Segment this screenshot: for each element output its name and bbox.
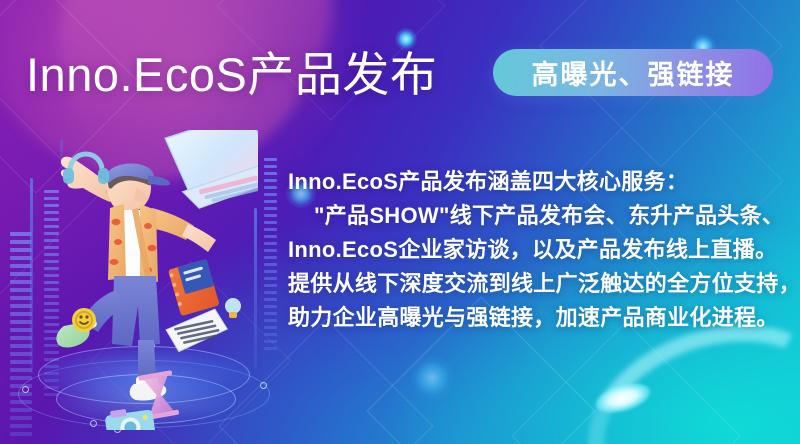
highlight-badge: 高曝光、强链接 — [493, 49, 773, 96]
pedestal-node — [260, 382, 267, 389]
highlight-badge-label: 高曝光、强链接 — [532, 53, 735, 92]
person-with-laptop-illustration — [28, 130, 258, 430]
description-line: 提供从线下深度交流到线上广泛触达的全方位支持， — [288, 270, 788, 298]
dashed-bar-decoration — [264, 158, 277, 350]
description-line: "产品SHOW"线下产品发布会、东升产品头条、 — [288, 202, 788, 230]
glow-dot-decoration — [410, 356, 454, 400]
description-line: 助力企业高曝光与强链接，加速产品商业化进程。 — [288, 304, 788, 332]
page-title: Inno.EcoS产品发布 — [26, 36, 437, 105]
description-line: Inno.EcoS产品发布涵盖四大核心服务： — [288, 168, 788, 196]
description-block: Inno.EcoS产品发布涵盖四大核心服务： "产品SHOW"线下产品发布会、东… — [288, 168, 788, 338]
description-line: Inno.EcoS企业家访谈，以及产品发布线上直播。 — [288, 236, 788, 264]
promo-banner: Inno.EcoS产品发布 高曝光、强链接 Inno.EcoS产品发布涵盖四大核… — [0, 0, 800, 444]
